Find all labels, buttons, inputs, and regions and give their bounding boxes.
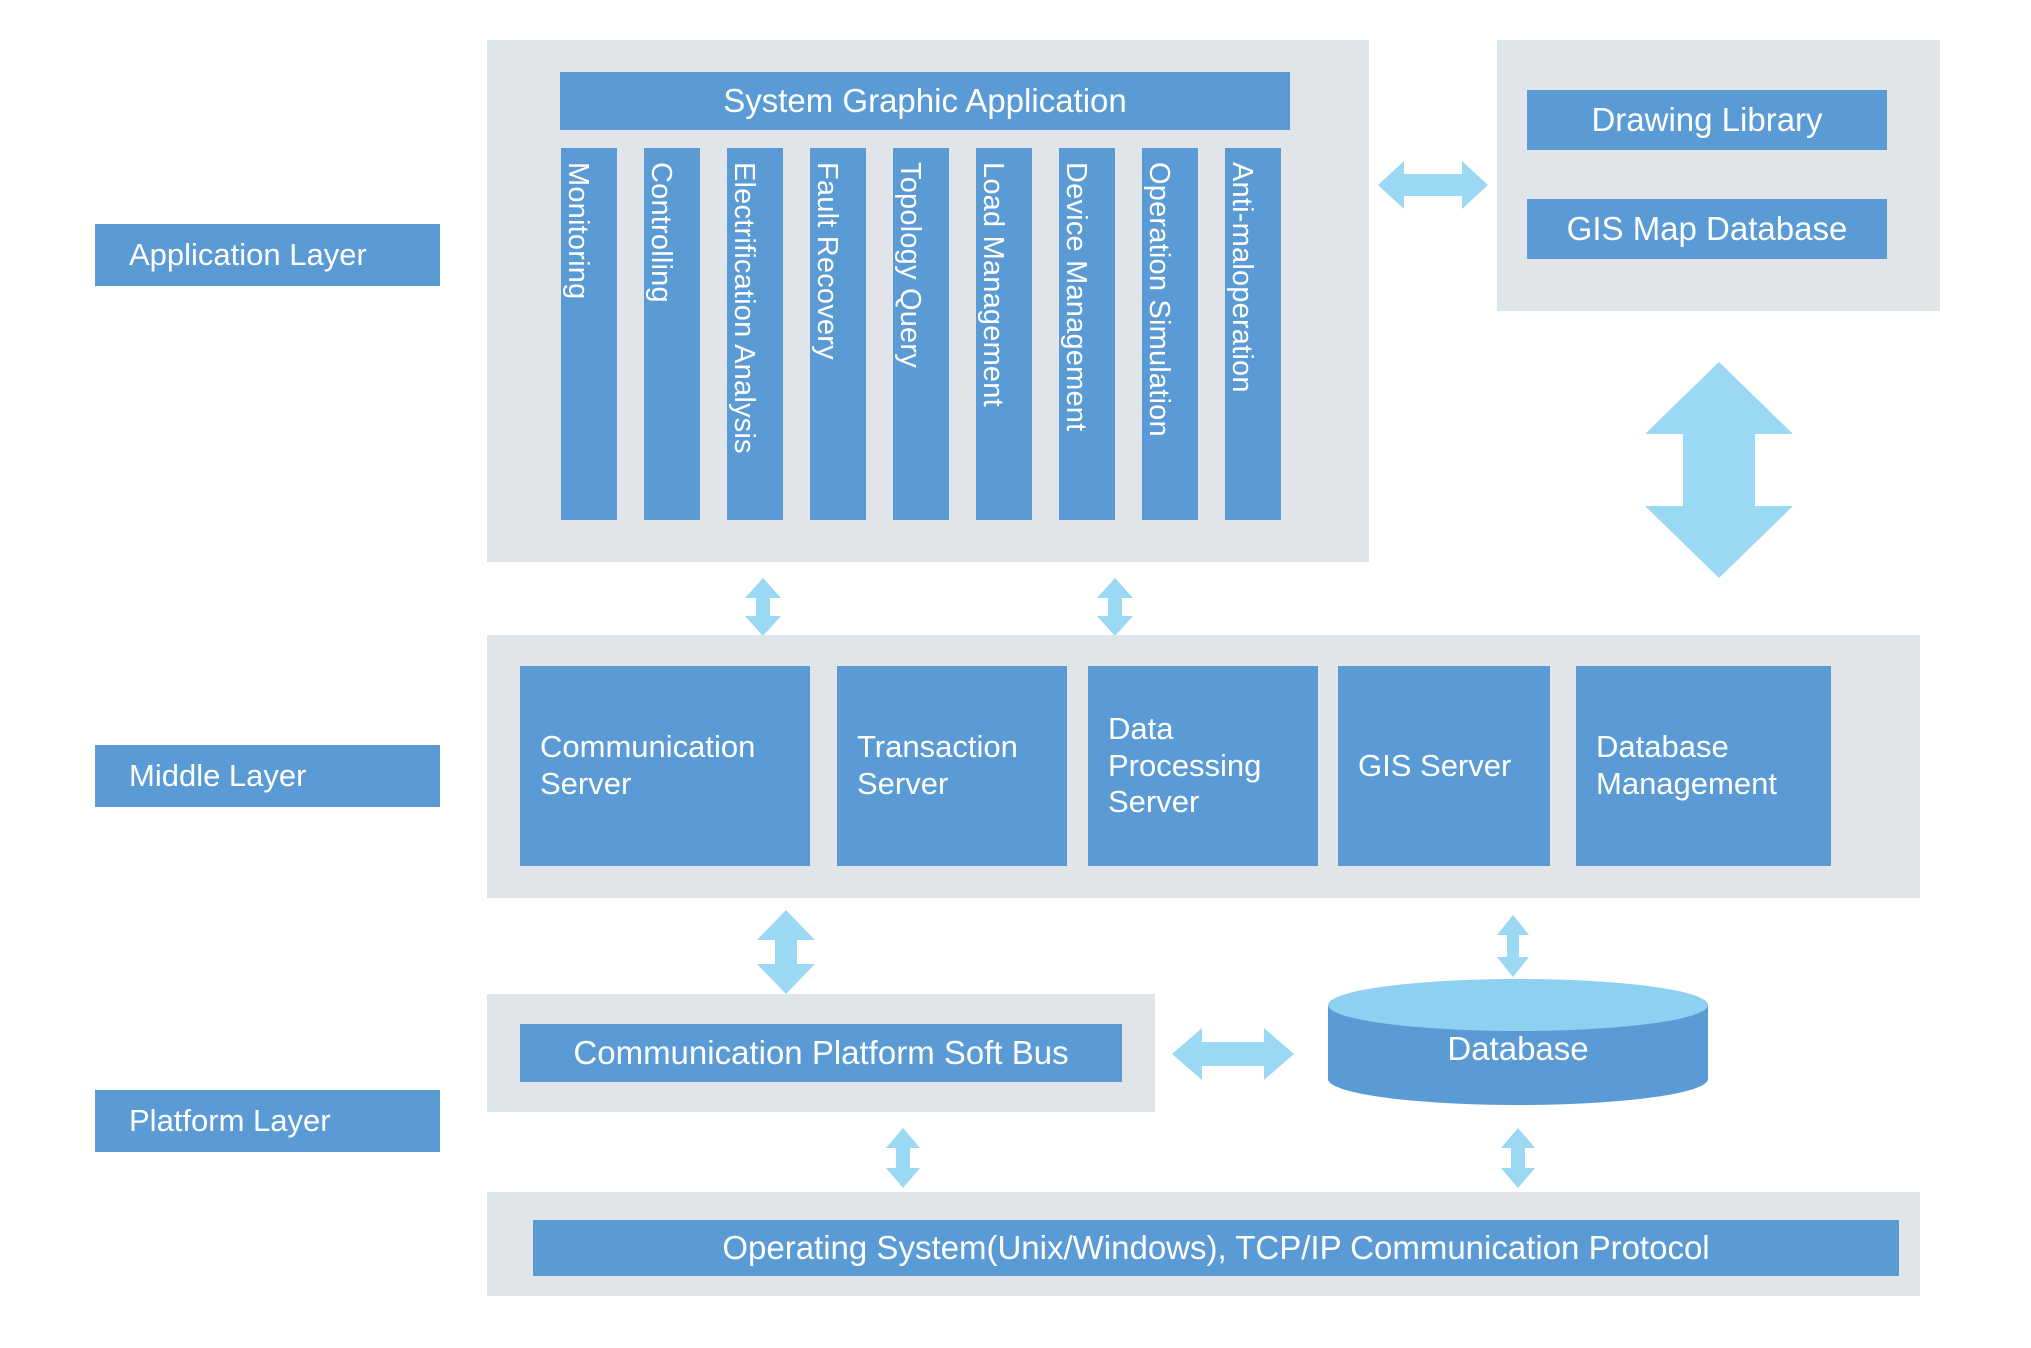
layer-tag-label: Platform Layer bbox=[129, 1103, 331, 1139]
system-graphic-application-header[interactable]: System Graphic Application bbox=[560, 72, 1290, 130]
layer-tag-label: Application Layer bbox=[129, 237, 367, 273]
module-bar-topology-query[interactable]: Topology Query bbox=[893, 148, 949, 520]
soft-bus-label: Communication Platform Soft Bus bbox=[573, 1034, 1068, 1073]
database-label-wrap: Database bbox=[1328, 979, 1708, 1119]
drawing-library-box[interactable]: Drawing Library bbox=[1527, 90, 1887, 150]
module-bar-anti-maloperation[interactable]: Anti-maloperation bbox=[1225, 148, 1281, 520]
connector-middle-to-database-arrow bbox=[1497, 915, 1529, 977]
connector-app-to-resource-arrow bbox=[1378, 157, 1488, 213]
connector-middle-to-softbus-arrow bbox=[757, 910, 815, 994]
module-label: Fault Recovery bbox=[810, 148, 843, 360]
layer-tag-platform: Platform Layer bbox=[95, 1090, 440, 1152]
module-bar-monitoring[interactable]: Monitoring bbox=[561, 148, 617, 520]
middle-item-label: Communication Server bbox=[540, 729, 810, 802]
middle-item-label: Transaction Server bbox=[857, 729, 1067, 802]
connector-softbus-to-os-arrow bbox=[886, 1128, 920, 1188]
module-label: Operation Simulation bbox=[1142, 148, 1175, 437]
resource-panel bbox=[1497, 40, 1940, 311]
middle-item-gis-server[interactable]: GIS Server bbox=[1338, 666, 1550, 866]
database-cylinder[interactable]: Database bbox=[1328, 979, 1708, 1119]
database-label: Database bbox=[1447, 1030, 1588, 1068]
gis-map-database-box[interactable]: GIS Map Database bbox=[1527, 199, 1887, 259]
module-label: Load Management bbox=[976, 148, 1009, 407]
resource-label: GIS Map Database bbox=[1567, 210, 1848, 249]
connector-softbus-to-database-arrow bbox=[1172, 1024, 1294, 1084]
module-bar-electrification-analysis[interactable]: Electrification Analysis bbox=[727, 148, 783, 520]
middle-item-label: Data Processing Server bbox=[1108, 711, 1318, 821]
layer-tag-application: Application Layer bbox=[95, 224, 440, 286]
connector-database-to-os-arrow bbox=[1501, 1128, 1535, 1188]
module-bar-device-management[interactable]: Device Management bbox=[1059, 148, 1115, 520]
module-bar-load-management[interactable]: Load Management bbox=[976, 148, 1032, 520]
middle-item-label: GIS Server bbox=[1358, 748, 1511, 785]
communication-platform-soft-bus-box[interactable]: Communication Platform Soft Bus bbox=[520, 1024, 1122, 1082]
operating-system-label: Operating System(Unix/Windows), TCP/IP C… bbox=[722, 1229, 1709, 1268]
module-bar-controlling[interactable]: Controlling bbox=[644, 148, 700, 520]
middle-item-database-management[interactable]: Database Management bbox=[1576, 666, 1831, 866]
layer-tag-middle: Middle Layer bbox=[95, 745, 440, 807]
middle-item-label: Database Management bbox=[1596, 729, 1831, 802]
module-bar-operation-simulation[interactable]: Operation Simulation bbox=[1142, 148, 1198, 520]
header-label: System Graphic Application bbox=[723, 82, 1127, 121]
middle-item-data-processing-server[interactable]: Data Processing Server bbox=[1088, 666, 1318, 866]
module-bar-fault-recovery[interactable]: Fault Recovery bbox=[810, 148, 866, 520]
module-label: Controlling bbox=[644, 148, 677, 303]
operating-system-box[interactable]: Operating System(Unix/Windows), TCP/IP C… bbox=[533, 1220, 1899, 1276]
layer-tag-label: Middle Layer bbox=[129, 758, 306, 794]
connector-app-to-middle-left-arrow bbox=[745, 578, 781, 636]
architecture-diagram: Application Layer Middle Layer Platform … bbox=[0, 0, 2031, 1348]
module-label: Topology Query bbox=[893, 148, 926, 368]
connector-resource-to-middle-arrow bbox=[1645, 362, 1793, 578]
middle-item-communication-server[interactable]: Communication Server bbox=[520, 666, 810, 866]
module-label: Anti-maloperation bbox=[1225, 148, 1258, 393]
connector-app-to-middle-right-arrow bbox=[1097, 578, 1133, 636]
module-label: Monitoring bbox=[561, 148, 594, 299]
module-label: Electrification Analysis bbox=[727, 148, 760, 454]
middle-item-transaction-server[interactable]: Transaction Server bbox=[837, 666, 1067, 866]
module-label: Device Management bbox=[1059, 148, 1092, 431]
resource-label: Drawing Library bbox=[1591, 101, 1822, 140]
